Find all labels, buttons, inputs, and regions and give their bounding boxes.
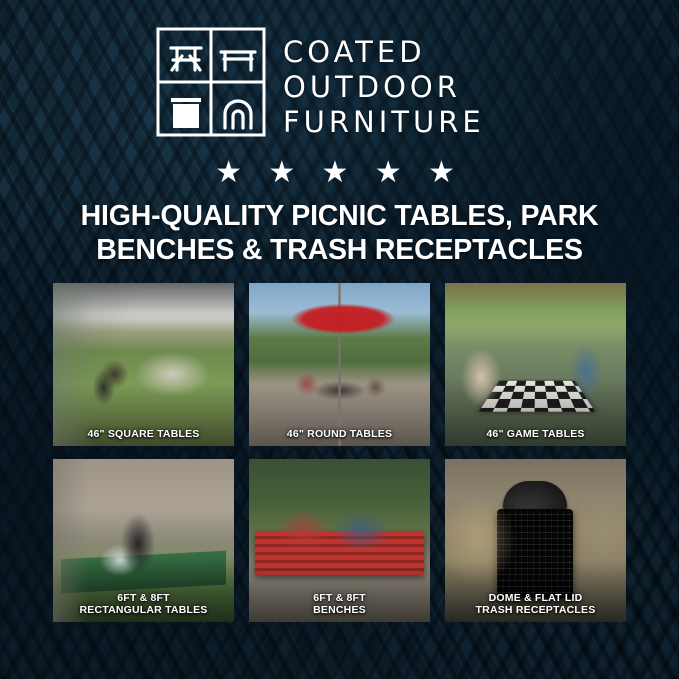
- five-stars-icon: ★ ★ ★ ★ ★: [0, 158, 679, 188]
- brand-name-line-3: FURNITURE: [283, 108, 485, 137]
- product-tile[interactable]: DOME & FLAT LID TRASH RECEPTACLES: [445, 459, 626, 622]
- square-table-photo: [53, 283, 234, 446]
- game-table-checkerboard-photo: [445, 283, 626, 446]
- brand-name: COATED OUTDOOR FURNITURE: [283, 26, 485, 137]
- product-tile-caption: 46" GAME TABLES: [445, 428, 626, 440]
- product-tile-caption: 46" ROUND TABLES: [249, 428, 430, 440]
- green-table-surface: [61, 551, 226, 594]
- trash-can: [497, 481, 573, 599]
- product-tile-caption: 6FT & 8FT RECTANGULAR TABLES: [53, 592, 234, 616]
- headline-line-1: HIGH-QUALITY PICNIC TABLES, PARK: [0, 200, 679, 234]
- headline-line-2: BENCHES & TRASH RECEPTACLES: [0, 234, 679, 268]
- brand-name-line-1: COATED: [283, 38, 485, 67]
- poster-image: COATED OUTDOOR FURNITURE ★ ★ ★ ★ ★ HIGH-…: [0, 0, 679, 679]
- product-tile-caption: 46" SQUARE TABLES: [53, 428, 234, 440]
- red-bench-seat: [255, 531, 424, 575]
- brand-name-line-2: OUTDOOR: [283, 73, 485, 102]
- headline: HIGH-QUALITY PICNIC TABLES, PARK BENCHES…: [0, 200, 679, 267]
- mesh-can-body: [497, 509, 573, 599]
- product-tile[interactable]: 46" SQUARE TABLES: [53, 283, 234, 446]
- product-tile[interactable]: 46" GAME TABLES: [445, 283, 626, 446]
- product-tile[interactable]: 46" ROUND TABLES: [249, 283, 430, 446]
- product-tile[interactable]: 6FT & 8FT BENCHES: [249, 459, 430, 622]
- round-table-umbrella-photo: [249, 283, 430, 446]
- dome-lid: [503, 481, 567, 511]
- brand-logo: COATED OUTDOOR FURNITURE: [155, 26, 535, 141]
- product-tile-caption: 6FT & 8FT BENCHES: [249, 592, 430, 616]
- picnic-table-bench-trash-grid-logo-icon: [155, 26, 267, 138]
- product-tile-caption: DOME & FLAT LID TRASH RECEPTACLES: [445, 592, 626, 616]
- product-tile-grid: 46" SQUARE TABLES 46" ROUND TABLES 46" G…: [53, 283, 627, 622]
- product-tile[interactable]: 6FT & 8FT RECTANGULAR TABLES: [53, 459, 234, 622]
- checkerboard-pattern: [479, 381, 595, 412]
